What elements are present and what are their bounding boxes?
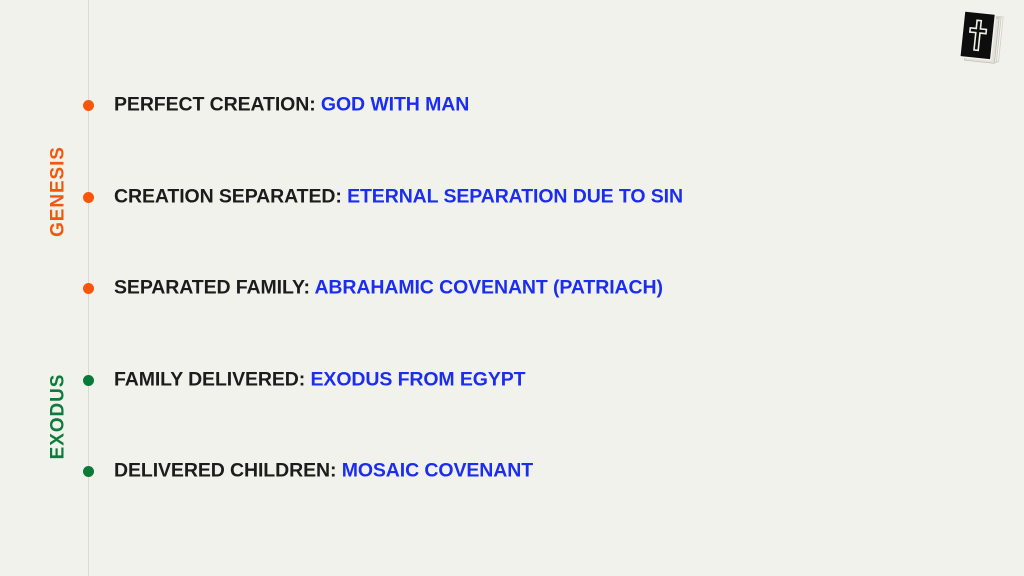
timeline-item-label: SEPARATED FAMILY: [114, 276, 314, 298]
timeline-item-text: PERFECT CREATION: GOD WITH MAN [114, 94, 469, 115]
timeline-item: PERFECT CREATION: GOD WITH MAN [0, 90, 1024, 120]
timeline-item-highlight: MOSAIC COVENANT [342, 459, 533, 481]
timeline-item-highlight: ABRAHAMIC COVENANT (PATRIACH) [314, 276, 662, 298]
timeline-item: CREATION SEPARATED: ETERNAL SEPARATION D… [0, 182, 1024, 212]
bible-book-icon [955, 8, 1011, 66]
timeline-item-text: FAMILY DELIVERED: EXODUS FROM EGYPT [114, 369, 526, 390]
timeline-item-text: CREATION SEPARATED: ETERNAL SEPARATION D… [114, 186, 683, 207]
timeline-item: DELIVERED CHILDREN: MOSAIC COVENANT [0, 456, 1024, 486]
timeline-item-highlight: GOD WITH MAN [321, 93, 469, 115]
timeline-item-text: DELIVERED CHILDREN: MOSAIC COVENANT [114, 460, 533, 481]
timeline-item-label: PERFECT CREATION: [114, 93, 321, 115]
timeline-item-text: SEPARATED FAMILY: ABRAHAMIC COVENANT (PA… [114, 277, 663, 298]
timeline-bullet-icon [83, 100, 94, 111]
timeline-item: SEPARATED FAMILY: ABRAHAMIC COVENANT (PA… [0, 273, 1024, 303]
timeline-item-highlight: ETERNAL SEPARATION DUE TO SIN [347, 185, 683, 207]
timeline-bullet-icon [83, 192, 94, 203]
timeline-item-label: FAMILY DELIVERED: [114, 368, 311, 390]
timeline-bullet-icon [83, 283, 94, 294]
timeline-item: FAMILY DELIVERED: EXODUS FROM EGYPT [0, 365, 1024, 395]
timeline-bullet-icon [83, 375, 94, 386]
timeline-item-label: DELIVERED CHILDREN: [114, 459, 342, 481]
timeline-bullet-icon [83, 466, 94, 477]
timeline-item-label: CREATION SEPARATED: [114, 185, 347, 207]
slide-canvas: GENESIS EXODUS PERFECT CREATION: GOD WIT… [0, 0, 1024, 576]
timeline-item-highlight: EXODUS FROM EGYPT [311, 368, 526, 390]
